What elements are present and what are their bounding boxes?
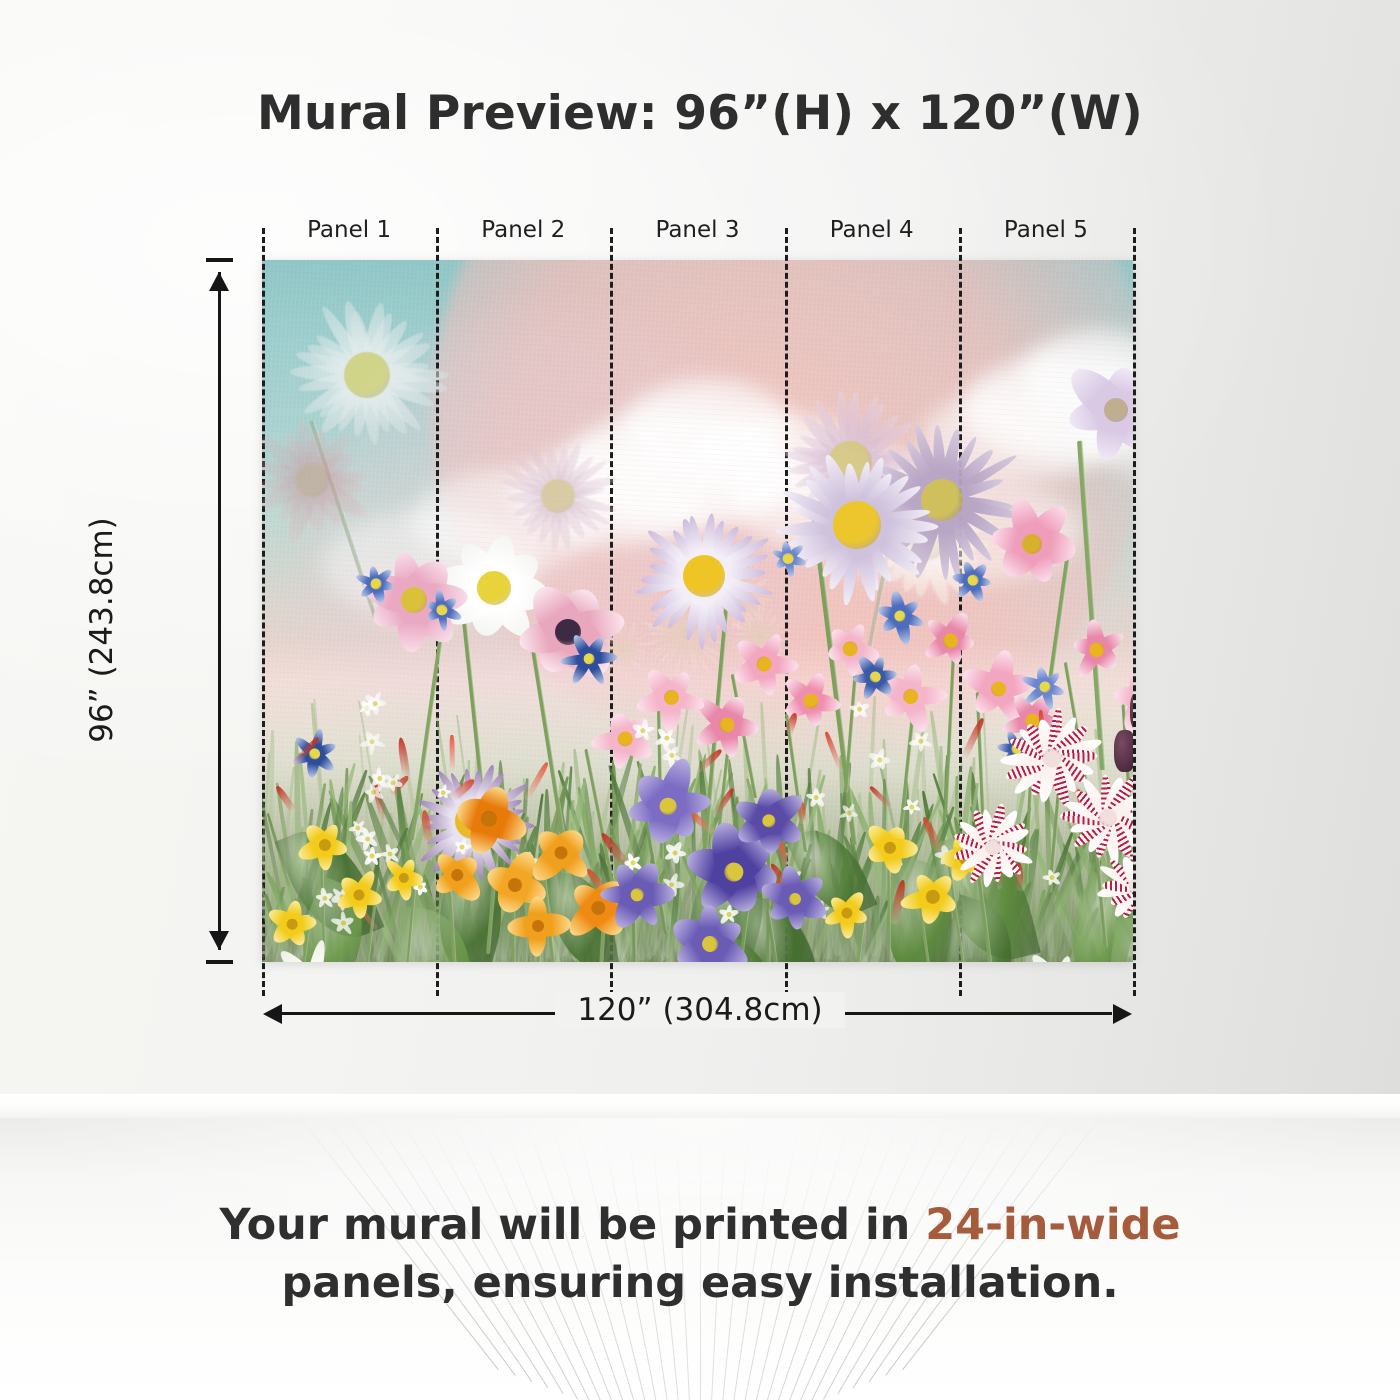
width-dimension-label: 120” (304.8cm) (0, 992, 1400, 1028)
panel-label-1: Panel 1 (262, 217, 436, 243)
grass-blade (449, 735, 455, 773)
mural-flower (775, 443, 940, 608)
mural-flower (731, 783, 807, 859)
height-arrow-down-icon (209, 931, 229, 950)
mural-flower (1051, 345, 1133, 476)
caption-highlight: 24-in-wide (925, 1200, 1180, 1250)
petal (1052, 955, 1074, 962)
width-dimension-text: 120” (304.8cm) (555, 992, 844, 1028)
mural-flower (600, 858, 674, 932)
flower-center (1049, 875, 1054, 880)
mural-flower (507, 895, 568, 956)
mural-flower (867, 747, 892, 772)
height-tick-bottom (206, 960, 233, 964)
caption-line-1: Your mural will be printed in 24-in-wide (0, 1196, 1400, 1254)
mural-flower (378, 852, 431, 905)
mural-flower (869, 585, 931, 647)
flower-center (877, 757, 882, 762)
berry-head (1114, 730, 1133, 772)
caption-text-before: Your mural will be printed in (219, 1200, 925, 1250)
height-dimension-label: 96” (243.8cm) (84, 465, 120, 795)
mural-flower (293, 813, 358, 878)
mural-preview-screen: Mural Preview: 96”(H) x 120”(W) Panel 1P… (0, 0, 1400, 1400)
caption-line-2: panels, ensuring easy installation. (0, 1254, 1400, 1312)
mural-artwork-preview[interactable] (262, 260, 1133, 962)
flower-center (390, 780, 395, 785)
height-dimension-line (218, 272, 221, 950)
panel-divider-5 (1133, 228, 1136, 996)
panel-label-4: Panel 4 (785, 217, 959, 243)
carnation-flower (1096, 846, 1133, 927)
flower-center (630, 888, 643, 901)
panel-label-3: Panel 3 (610, 217, 784, 243)
panel-label-5: Panel 5 (959, 217, 1133, 243)
petal (306, 939, 329, 962)
baseboard (0, 1094, 1400, 1120)
mural-flower (262, 412, 380, 548)
mural-flower (846, 648, 904, 706)
page-title: Mural Preview: 96”(H) x 120”(W) (0, 86, 1400, 141)
height-arrow-up-icon (209, 272, 229, 291)
height-tick-top (206, 258, 233, 262)
mural-flower (950, 558, 995, 603)
panel-label-2: Panel 2 (436, 217, 610, 243)
flower-center (370, 854, 375, 859)
printing-caption: Your mural will be printed in 24-in-wide… (0, 1196, 1400, 1312)
